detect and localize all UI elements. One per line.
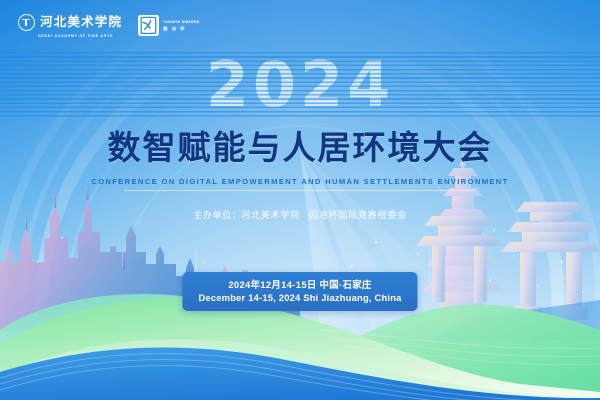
university-name-en: HEBEI ACADEMY OF FINE ARTS <box>38 34 113 38</box>
university-logo[interactable]: 河北美术学院 HEBEI ACADEMY OF FINE ARTS <box>18 14 122 38</box>
organizer-line: 主办单位：河北美术学院园冶杯国际竞赛组委会 <box>0 208 600 222</box>
page-title: 数智赋能与人居环境大会 <box>0 128 600 168</box>
title-divider <box>124 190 476 191</box>
year-heading: 2024 <box>0 52 600 118</box>
conference-banner: 河北美术学院 HEBEI ACADEMY OF FINE ARTS YUANYE… <box>0 0 600 400</box>
organizer-label: 主办单位： <box>193 210 241 220</box>
competition-logo[interactable]: YUANYE AWARDS 园 冶 杯 <box>138 15 199 36</box>
date-text-en: December 14-15, 2024 Shi Jiazhuang, Chin… <box>198 291 401 304</box>
organizer-primary: 河北美术学院 <box>241 210 300 220</box>
year-text: 2024 <box>206 52 395 118</box>
page-subtitle: CONFERENCE ON DIGITAL EMPOWERMENT AND HU… <box>0 176 600 187</box>
header-logos: 河北美术学院 HEBEI ACADEMY OF FINE ARTS YUANYE… <box>18 14 200 38</box>
organizer-secondary: 园冶杯国际竞赛组委会 <box>309 210 407 220</box>
competition-name-cn: 园 冶 杯 <box>163 26 199 32</box>
seal-emblem-icon <box>18 14 35 31</box>
date-text-cn: 2024年12月14-15日 中国·石家庄 <box>198 278 401 291</box>
university-name-cn: 河北美术学院 <box>40 16 122 29</box>
date-badge: 2024年12月14-15日 中国·石家庄 December 14-15, 20… <box>182 272 417 311</box>
yuanye-mark-icon <box>138 15 159 36</box>
competition-name-en: YUANYE AWARDS <box>163 20 199 25</box>
